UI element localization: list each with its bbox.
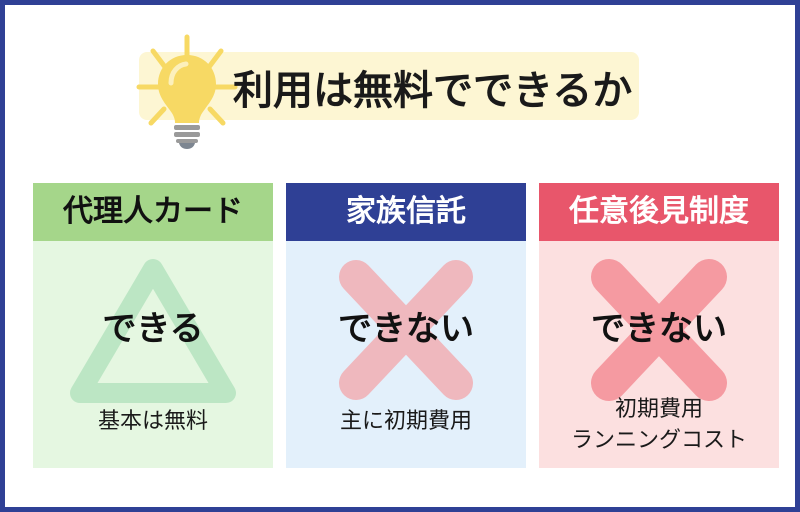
card-header: 代理人カード [33,183,273,241]
card-kazoku-shintaku: 家族信託 できない 主に初期費用 [286,183,526,468]
comparison-infographic: 利用は無料でできるか 代理人カード できる 基本は無料 家族信託 [0,0,800,512]
card-note-line1: 初期費用 [615,396,703,421]
card-note: 主に初期費用 [286,405,526,436]
card-note: 初期費用 ランニングコスト [539,393,779,455]
card-note-line1: 主に初期費用 [340,408,472,433]
card-header: 家族信託 [286,183,526,241]
lightbulb-icon [131,33,243,149]
page-title: 利用は無料でできるか [233,63,653,119]
card-header: 任意後見制度 [539,183,779,241]
card-dairinin-card: 代理人カード できる 基本は無料 [33,183,273,468]
card-verdict: できない [286,301,526,350]
card-body: できる 基本は無料 [33,241,273,468]
comparison-cards: 代理人カード できる 基本は無料 家族信託 [33,183,779,468]
card-note-line1: 基本は無料 [98,408,208,433]
card-verdict: できる [33,301,273,350]
card-verdict: できない [539,301,779,350]
card-note: 基本は無料 [33,405,273,436]
card-body: できない 主に初期費用 [286,241,526,468]
card-nini-koken-seido: 任意後見制度 できない 初期費用 ランニングコスト [539,183,779,468]
card-note-line2: ランニングコスト [539,424,779,455]
card-body: できない 初期費用 ランニングコスト [539,241,779,468]
